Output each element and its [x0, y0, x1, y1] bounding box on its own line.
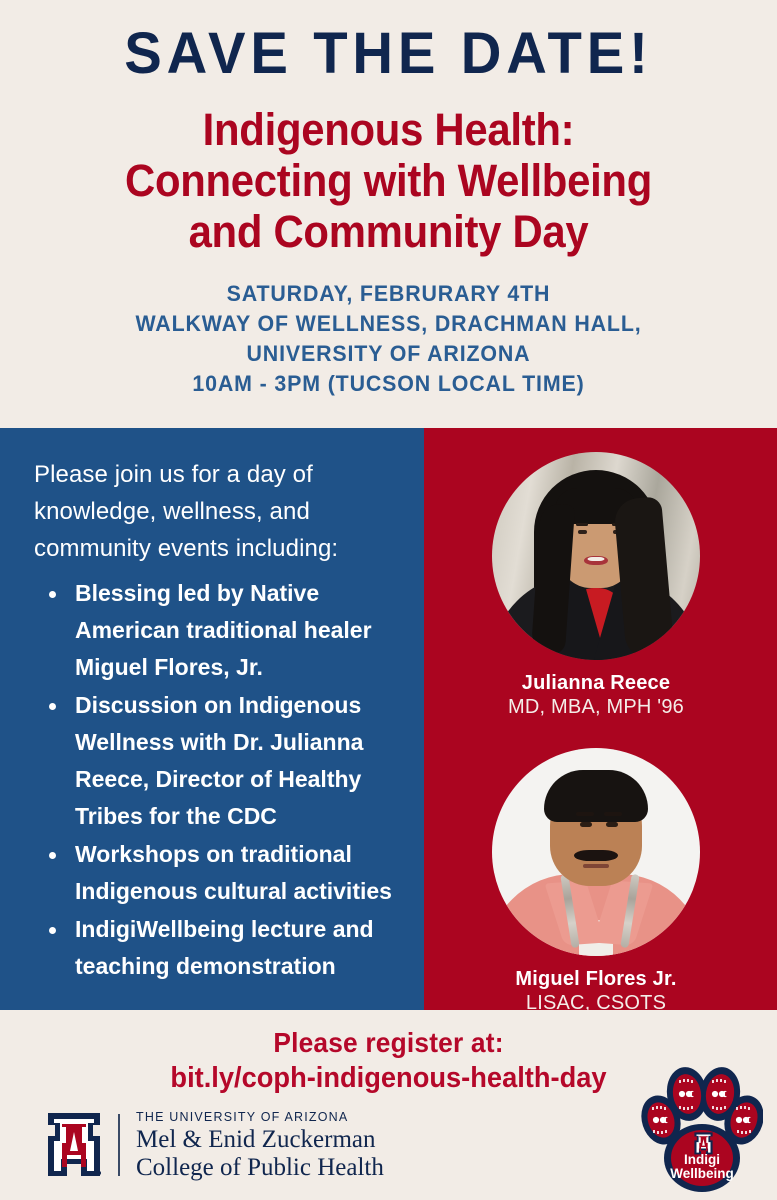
mouth-shape: [583, 864, 609, 868]
brow-left-shape: [576, 523, 588, 526]
eye-left-shape: [580, 822, 592, 827]
speaker-caption-2: Miguel Flores Jr. LISAC, CSOTS: [492, 967, 700, 1016]
event-institution: UNIVERSITY OF ARIZONA: [19, 339, 757, 369]
speaker-caption-1: Julianna Reece MD, MBA, MPH '96: [492, 671, 700, 720]
college-name-line-1: Mel & Enid Zuckerman: [136, 1126, 384, 1154]
content-panels: Please join us for a day of knowledge, w…: [0, 428, 777, 1010]
teeth-shape: [588, 557, 605, 561]
paw-label-line-1: Indigi: [684, 1152, 720, 1167]
eye-left-shape: [578, 530, 587, 534]
event-title-line-1: Indigenous Health:: [27, 104, 750, 155]
speaker-photo-julianna-reece: [492, 452, 700, 660]
logo-divider: [118, 1114, 120, 1176]
university-name: THE UNIVERSITY OF ARIZONA: [136, 1109, 384, 1125]
list-item: IndigiWellbeing lecture and teaching dem…: [69, 911, 398, 985]
brow-right-shape: [604, 812, 622, 816]
event-time: 10AM - 3PM (TUCSON LOCAL TIME): [19, 369, 757, 399]
mustache-shape: [574, 850, 618, 861]
poster-header: SAVE THE DATE! Indigenous Health: Connec…: [0, 0, 777, 399]
event-date: SATURDAY, FEBRURARY 4TH: [19, 279, 757, 309]
speaker-card-1: Julianna Reece MD, MBA, MPH '96: [492, 452, 700, 720]
brow-left-shape: [576, 812, 594, 816]
event-details: SATURDAY, FEBRURARY 4TH WALKWAY OF WELLN…: [19, 279, 757, 399]
indigiwellbeing-paw-logo: Indigi Wellbeing: [639, 1062, 763, 1194]
list-item: Workshops on traditional Indigenous cult…: [69, 836, 398, 910]
university-of-arizona-block-a-icon: [44, 1112, 104, 1178]
hair-shape: [544, 770, 648, 822]
college-name-line-2: College of Public Health: [136, 1154, 384, 1182]
event-title-line-2: Connecting with Wellbeing: [27, 155, 750, 206]
event-venue: WALKWAY OF WELLNESS, DRACHMAN HALL,: [19, 309, 757, 339]
list-item: Discussion on Indigenous Wellness with D…: [69, 687, 398, 835]
page-title: SAVE THE DATE!: [12, 24, 766, 84]
speakers-panel: Julianna Reece MD, MBA, MPH '96: [424, 428, 777, 1010]
college-wordmark: THE UNIVERSITY OF ARIZONA Mel & Enid Zuc…: [136, 1109, 384, 1182]
list-item: Blessing led by Native American traditio…: [69, 575, 398, 686]
intro-paragraph: Please join us for a day of knowledge, w…: [34, 456, 398, 567]
paw-label-line-2: Wellbeing: [670, 1166, 734, 1181]
description-panel: Please join us for a day of knowledge, w…: [0, 428, 424, 1010]
event-title-line-3: and Community Day: [27, 206, 750, 257]
speaker-card-2: Miguel Flores Jr. LISAC, CSOTS: [492, 748, 700, 1016]
speaker-photo-miguel-flores-jr: [492, 748, 700, 956]
eye-right-shape: [606, 822, 618, 827]
speaker-name: Miguel Flores Jr.: [492, 967, 700, 991]
register-prompt: Please register at:: [23, 1026, 753, 1060]
activities-list: Blessing led by Native American traditio…: [34, 575, 398, 985]
speaker-credentials: MD, MBA, MPH '96: [492, 695, 700, 720]
poster-footer: THE UNIVERSITY OF ARIZONA Mel & Enid Zuc…: [0, 1090, 777, 1200]
speaker-name: Julianna Reece: [492, 671, 700, 695]
event-title: Indigenous Health: Connecting with Wellb…: [27, 104, 750, 257]
